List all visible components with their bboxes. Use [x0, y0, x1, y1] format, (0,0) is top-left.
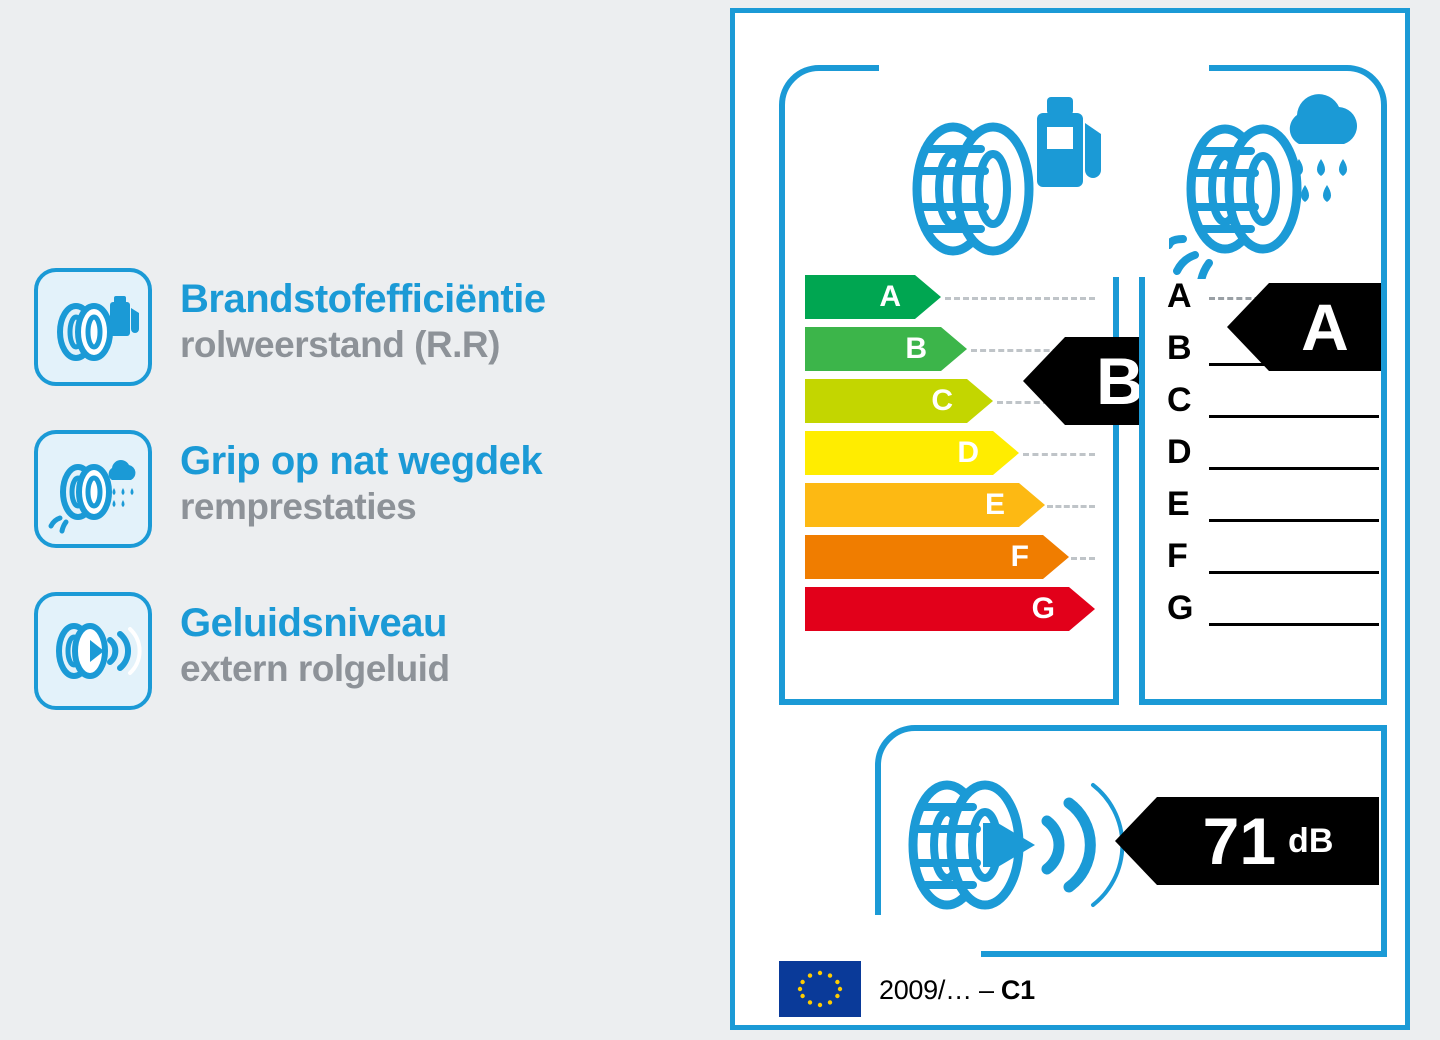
- class-bar-label: D: [957, 436, 979, 470]
- wet-class-line: [1209, 415, 1379, 418]
- legend-text-fuel: Brandstofefficiëntie rolweerstand (R.R): [180, 268, 546, 367]
- wet-class-label-a: A: [1167, 277, 1192, 316]
- wet-class-label-f: F: [1167, 537, 1188, 576]
- class-bar-label: B: [905, 332, 927, 366]
- class-bar-label: C: [931, 384, 953, 418]
- wet-class-label-d: D: [1167, 433, 1192, 472]
- tyre-label-infographic: Brandstofefficiëntie rolweerstand (R.R): [0, 0, 1440, 1040]
- wet-class-label-c: C: [1167, 381, 1192, 420]
- tyre-sound-waves-icon: [34, 592, 152, 710]
- noise-result-arrow: 71 dB: [1115, 797, 1379, 885]
- wet-class-line: [1209, 571, 1379, 574]
- class-dots: [1023, 453, 1095, 456]
- class-bar-d: D: [805, 431, 1019, 475]
- legend-item-noise: Geluidsniveau extern rolgeluid: [34, 592, 694, 710]
- class-bar-label: A: [879, 280, 901, 314]
- tyre-rain-cloud-icon: [34, 430, 152, 548]
- class-bar-c: C: [805, 379, 993, 423]
- legend-list: Brandstofefficiëntie rolweerstand (R.R): [34, 268, 694, 754]
- eu-tyre-label-card: A B C D E: [730, 8, 1410, 1030]
- wet-panel-icon: [1169, 79, 1389, 279]
- class-bar-g: G: [805, 587, 1095, 631]
- noise-result-body: 71 dB: [1157, 797, 1379, 885]
- noise-value: 71: [1203, 803, 1276, 879]
- class-bar-label: G: [1032, 592, 1055, 626]
- wet-grip-result-arrow: A: [1227, 283, 1381, 371]
- class-bar-label: E: [985, 488, 1005, 522]
- class-bar-e: E: [805, 483, 1045, 527]
- eu-flag-icon: [779, 961, 861, 1017]
- legend-text-noise: Geluidsniveau extern rolgeluid: [180, 592, 450, 691]
- wet-class-line: [1209, 623, 1379, 626]
- legend-item-fuel-efficiency: Brandstofefficiëntie rolweerstand (R.R): [34, 268, 694, 386]
- class-dots: [1047, 505, 1095, 508]
- wet-class-label-e: E: [1167, 485, 1190, 524]
- legend-item-wet-grip: Grip op nat wegdek remprestaties: [34, 430, 694, 548]
- wet-class-label-b: B: [1167, 329, 1192, 368]
- legend-text-wet: Grip op nat wegdek remprestaties: [180, 430, 542, 529]
- wet-class-line: [1209, 519, 1379, 522]
- legend-title-fuel: Brandstofefficiëntie: [180, 278, 546, 320]
- noise-unit: dB: [1288, 822, 1333, 861]
- class-bar-f: F: [805, 535, 1069, 579]
- class-dots: [945, 297, 1095, 300]
- regulation-class: C1: [1001, 975, 1035, 1005]
- regulation-prefix: 2009/… –: [879, 975, 1001, 1005]
- legend-subtitle-fuel: rolweerstand (R.R): [180, 324, 546, 367]
- legend-title-noise: Geluidsniveau: [180, 602, 450, 644]
- legend-title-wet: Grip op nat wegdek: [180, 440, 542, 482]
- legend-subtitle-noise: extern rolgeluid: [180, 648, 450, 691]
- wet-class-label-g: G: [1167, 589, 1193, 628]
- tyre-fuel-pump-icon: [34, 268, 152, 386]
- wet-grip-result-value: A: [1269, 283, 1381, 371]
- legend-subtitle-wet: remprestaties: [180, 486, 542, 529]
- class-bar-a: A: [805, 275, 941, 319]
- wet-class-line: [1209, 467, 1379, 470]
- class-bar-b: B: [805, 327, 967, 371]
- class-bar-label: F: [1011, 540, 1029, 574]
- regulation-text: 2009/… – C1: [879, 975, 1035, 1006]
- class-dots: [1071, 557, 1095, 560]
- wet-grip-panel: A B C D E F G: [1139, 65, 1387, 705]
